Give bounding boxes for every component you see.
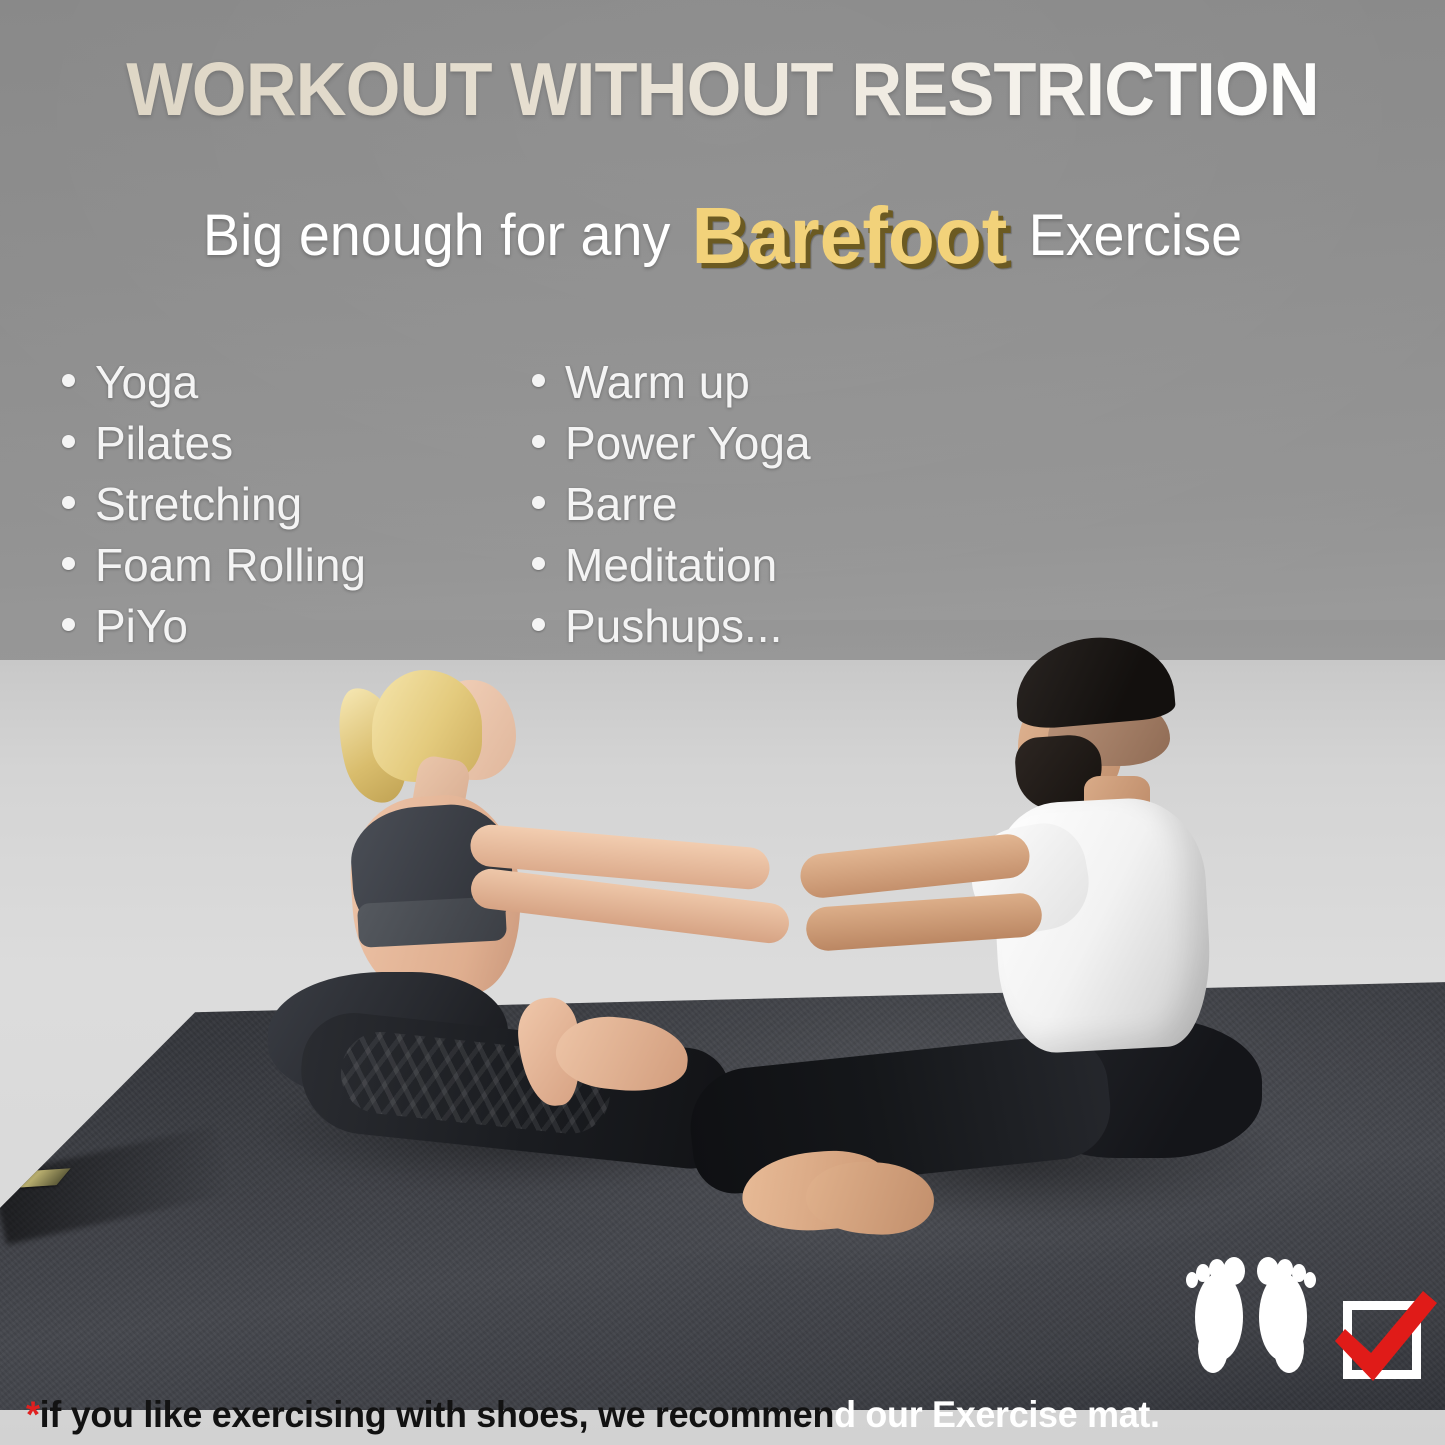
bullet-dot-icon [62,496,75,509]
list-item-label: Pilates [95,413,233,474]
activity-list-left: Yoga Pilates Stretching Foam Rolling PiY… [62,352,492,657]
sub-headline-after: Exercise [1029,203,1243,268]
list-item-label: Stretching [95,474,302,535]
list-item: Barre [532,474,962,535]
sub-headline-highlight: Barefoot [686,191,1013,280]
bullet-dot-icon [62,557,75,570]
scene-people [0,600,1445,1300]
list-item-label: Yoga [95,352,198,413]
list-item: Pushups... [532,596,962,657]
headline: WORKOUT WITHOUT RESTRICTION [43,52,1401,127]
sub-headline: Big enough for any Barefoot Exercise [29,188,1416,268]
barefoot-feet-icon [1177,1237,1327,1387]
list-item-label: Power Yoga [565,413,811,474]
list-item: PiYo [62,596,492,657]
list-item-label: Pushups... [565,596,782,657]
activity-list-right: Warm up Power Yoga Barre Meditation Push… [532,352,962,657]
barefoot-logo [1177,1237,1427,1387]
bullet-dot-icon [62,435,75,448]
bullet-dot-icon [62,618,75,631]
list-item-label: Warm up [565,352,750,413]
list-item: Foam Rolling [62,535,492,596]
footnote-dark-text: if you like exercising with shoes, we re… [40,1394,834,1435]
list-item: Power Yoga [532,413,962,474]
sub-headline-before: Big enough for any [203,203,670,268]
list-item: Warm up [532,352,962,413]
list-item-label: Meditation [565,535,777,596]
list-item: Pilates [62,413,492,474]
footnote-disclaimer: *if you like exercising with shoes, we r… [26,1396,1160,1433]
list-item: Yoga [62,352,492,413]
footnote-asterisk: * [26,1394,40,1435]
bullet-dot-icon [62,374,75,387]
bullet-dot-icon [532,496,545,509]
bullet-dot-icon [532,435,545,448]
list-item-label: Foam Rolling [95,535,366,596]
bullet-dot-icon [532,618,545,631]
bullet-dot-icon [532,557,545,570]
list-item-label: Barre [565,474,677,535]
list-item: Stretching [62,474,492,535]
bullet-dot-icon [532,374,545,387]
list-item-label: PiYo [95,596,188,657]
product-advertisement: WORKOUT WITHOUT RESTRICTION Big enough f… [0,0,1445,1445]
footnote-light-text: d our Exercise mat. [834,1394,1160,1435]
activity-lists: Yoga Pilates Stretching Foam Rolling PiY… [0,352,1445,657]
red-checkmark-icon [1331,1289,1439,1385]
list-item: Meditation [532,535,962,596]
